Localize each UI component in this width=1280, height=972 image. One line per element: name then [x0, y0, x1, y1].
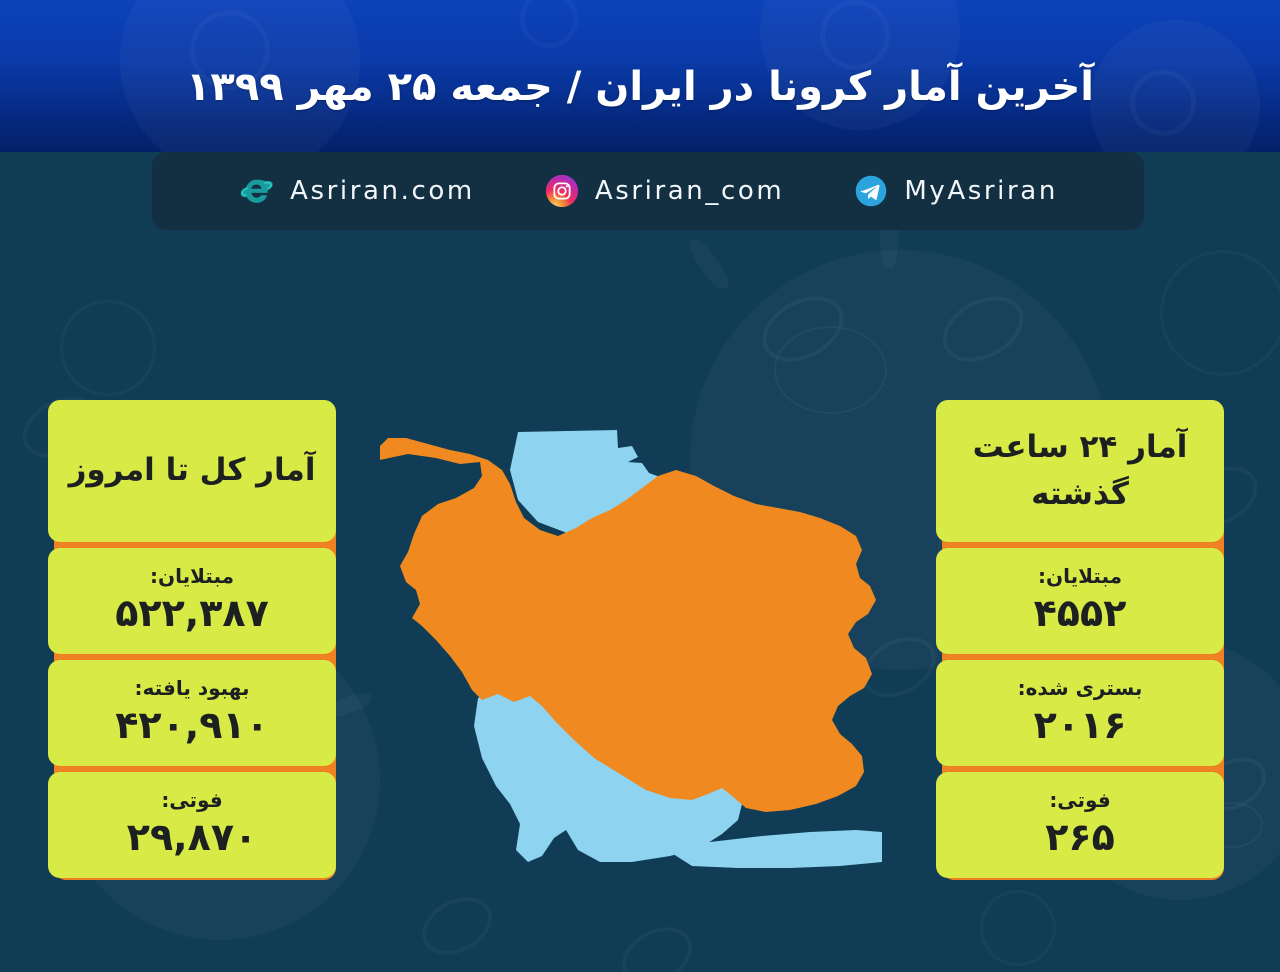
stat-label-total-cases: مبتلایان: [150, 565, 234, 588]
social-label-telegram: MyAsriran [904, 176, 1058, 206]
instagram-icon [543, 172, 581, 210]
stat-label-total-recovered: بهبود یافته: [134, 677, 249, 700]
stat-row-total-deaths: فوتی: ۲۹,۸۷۰ [48, 772, 336, 878]
stat-value-daily-deaths: ۲۶۵ [1045, 814, 1115, 862]
stat-row-daily-hospitalized: بستری شده: ۲۰۱۶ [936, 660, 1224, 766]
header-band: آخرین آمار کرونا در ایران / جمعه ۲۵ مهر … [0, 0, 1280, 152]
card-heading-last-24h: آمار ۲۴ ساعت گذشته [936, 400, 1224, 542]
internet-explorer-icon [238, 172, 276, 210]
stat-label-daily-cases: مبتلایان: [1038, 565, 1122, 588]
stat-value-total-cases: ۵۲۲,۳۸۷ [115, 590, 269, 638]
stat-row-total-cases: مبتلایان: ۵۲۲,۳۸۷ [48, 548, 336, 654]
infographic-canvas: آخرین آمار کرونا در ایران / جمعه ۲۵ مهر … [0, 0, 1280, 972]
card-heading-total-text: آمار کل تا امروز [69, 447, 316, 494]
stat-card-total: آمار کل تا امروز مبتلایان: ۵۲۲,۳۸۷ بهبود… [48, 400, 336, 878]
card-heading-last-24h-text: آمار ۲۴ ساعت گذشته [954, 424, 1206, 518]
telegram-icon [852, 172, 890, 210]
stat-value-total-recovered: ۴۲۰,۹۱۰ [115, 702, 269, 750]
social-links-bar: Asriran.com [152, 152, 1144, 230]
card-heading-total: آمار کل تا امروز [48, 400, 336, 542]
stat-row-total-recovered: بهبود یافته: ۴۲۰,۹۱۰ [48, 660, 336, 766]
stat-label-total-deaths: فوتی: [161, 789, 222, 812]
social-link-telegram[interactable]: MyAsriran [818, 172, 1092, 210]
stat-label-daily-hospitalized: بستری شده: [1018, 677, 1143, 700]
social-link-website[interactable]: Asriran.com [204, 172, 509, 210]
stat-row-daily-deaths: فوتی: ۲۶۵ [936, 772, 1224, 878]
stat-value-daily-cases: ۴۵۵۲ [1034, 590, 1127, 638]
iran-map [370, 400, 910, 900]
social-link-instagram[interactable]: Asriran_com [509, 172, 818, 210]
stat-value-daily-hospitalized: ۲۰۱۶ [1034, 702, 1127, 750]
page-title: آخرین آمار کرونا در ایران / جمعه ۲۵ مهر … [0, 27, 1280, 114]
stat-value-total-deaths: ۲۹,۸۷۰ [127, 814, 257, 862]
social-label-website: Asriran.com [290, 176, 475, 206]
social-label-instagram: Asriran_com [595, 176, 784, 206]
stat-label-daily-deaths: فوتی: [1049, 789, 1110, 812]
stat-card-last-24h: آمار ۲۴ ساعت گذشته مبتلایان: ۴۵۵۲ بستری … [936, 400, 1224, 878]
stat-row-daily-cases: مبتلایان: ۴۵۵۲ [936, 548, 1224, 654]
